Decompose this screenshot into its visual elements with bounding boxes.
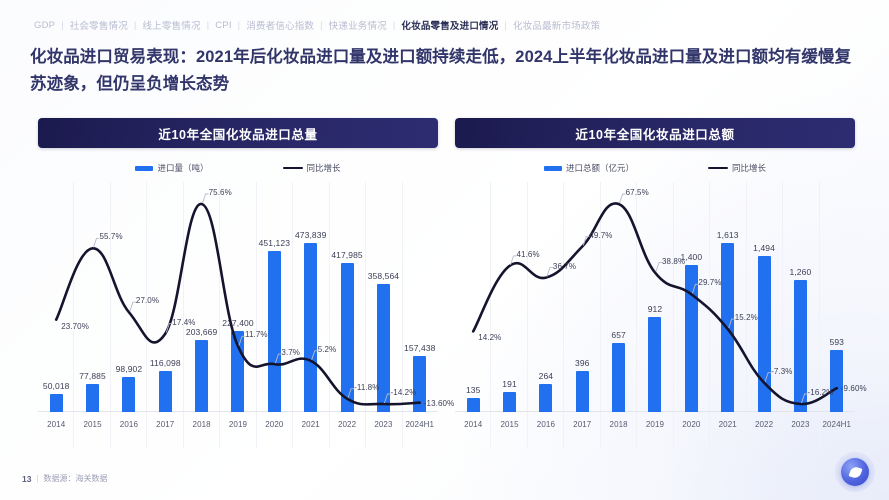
- x-axis-labels-import-volume: 2014201520162017201820192020202120222023…: [38, 420, 438, 434]
- x-tick-label: 2019: [637, 420, 673, 434]
- nav-item-6[interactable]: 快递业务情况: [323, 18, 393, 32]
- chart-plot-import-value: 1351912643966579121,4001,6131,4941,26059…: [455, 182, 855, 448]
- trend-value-label: 36.7%: [553, 262, 576, 271]
- x-tick-label: 2024H1: [819, 420, 855, 434]
- nav-item-7[interactable]: 化妆品零售及进口情况: [395, 18, 504, 32]
- chart-panel-import-value: 近10年全国化妆品进口总额 进口总额（亿元）同比增长 1351912643966…: [455, 118, 855, 448]
- legend-entry-2[interactable]: 同比增长: [708, 162, 766, 174]
- trend-value-label: -9.60%: [841, 384, 867, 393]
- x-tick-label: 2015: [74, 420, 110, 434]
- chart-title-import-volume: 近10年全国化妆品进口总量: [38, 118, 438, 148]
- leaf-logo-icon: [841, 458, 869, 486]
- trend-value-label: -13.60%: [424, 399, 455, 408]
- nav-item-2[interactable]: 社会零售情况: [64, 18, 134, 32]
- trend-value-label: 3.7%: [281, 348, 300, 357]
- slide-canvas: GDP|社会零售情况|线上零售情况|CPI|消费者信心指数|快递业务情况|化妆品…: [0, 0, 889, 500]
- x-tick-label: 2015: [491, 420, 527, 434]
- footer-separator: |: [36, 474, 38, 483]
- legend-entry-1[interactable]: 进口总额（亿元）: [544, 162, 634, 174]
- section-navigation[interactable]: GDP|社会零售情况|线上零售情况|CPI|消费者信心指数|快递业务情况|化妆品…: [34, 18, 606, 32]
- legend-label: 进口总额（亿元）: [566, 162, 634, 174]
- x-tick-label: 2019: [220, 420, 256, 434]
- x-tick-label: 2021: [293, 420, 329, 434]
- page-number: 13: [22, 474, 31, 484]
- x-tick-label: 2016: [528, 420, 564, 434]
- trend-value-label: -16.2%: [808, 388, 834, 397]
- trend-value-label: 49.7%: [589, 231, 612, 240]
- legend-label: 同比增长: [732, 162, 766, 174]
- x-tick-label: 2020: [673, 420, 709, 434]
- legend-label: 进口量（吨）: [157, 162, 208, 174]
- trend-value-label: 17.4%: [172, 318, 195, 327]
- x-tick-label: 2014: [38, 420, 74, 434]
- x-tick-label: 2018: [600, 420, 636, 434]
- x-tick-label: 2016: [111, 420, 147, 434]
- legend-entry-1[interactable]: 进口量（吨）: [135, 162, 208, 174]
- legend-line-swatch-icon: [708, 167, 728, 170]
- chart-legend-import-volume[interactable]: 进口量（吨）同比增长: [38, 160, 438, 176]
- trend-value-label: 29.7%: [698, 278, 721, 287]
- x-axis-labels-import-value: 2014201520162017201820192020202120222023…: [455, 420, 855, 434]
- nav-item-3[interactable]: 线上零售情况: [136, 18, 206, 32]
- x-tick-label: 2022: [746, 420, 782, 434]
- footer: 13 | 数据源：海关数据: [22, 473, 108, 484]
- trend-value-label: 15.2%: [735, 313, 758, 322]
- nav-item-5[interactable]: 消费者信心指数: [240, 18, 320, 32]
- chart-legend-import-value[interactable]: 进口总额（亿元）同比增长: [455, 160, 855, 176]
- trend-value-label: 27.0%: [136, 296, 159, 305]
- legend-bar-swatch-icon: [544, 166, 562, 171]
- x-tick-label: 2022: [329, 420, 365, 434]
- trend-value-label: 41.6%: [517, 250, 540, 259]
- x-tick-label: 2021: [710, 420, 746, 434]
- trend-line-import-value: [455, 182, 855, 448]
- trend-value-label: 14.2%: [478, 333, 501, 342]
- x-tick-label: 2017: [147, 420, 183, 434]
- trend-value-label: -11.8%: [354, 383, 379, 392]
- chart-plot-import-volume: 50,01877,88598,902116,098203,669227,4004…: [38, 182, 438, 448]
- x-tick-label: 2017: [564, 420, 600, 434]
- x-tick-label: 2018: [183, 420, 219, 434]
- nav-item-1[interactable]: GDP: [34, 20, 61, 31]
- nav-item-8[interactable]: 化妆品最新市场政策: [507, 18, 606, 32]
- legend-bar-swatch-icon: [135, 166, 153, 171]
- trend-value-label: 11.7%: [245, 330, 268, 339]
- trend-value-label: 23.70%: [61, 322, 89, 331]
- trend-line-import-volume: [38, 182, 438, 448]
- chart-title-import-value: 近10年全国化妆品进口总额: [455, 118, 855, 148]
- trend-value-label: 5.2%: [318, 345, 337, 354]
- page-title: 化妆品进口贸易表现：2021年后化妆品进口量及进口额持续走低，2024上半年化妆…: [30, 44, 865, 98]
- chart-panel-import-volume: 近10年全国化妆品进口总量 进口量（吨）同比增长 50,01877,88598,…: [38, 118, 438, 448]
- trend-value-label: -7.3%: [771, 367, 792, 376]
- legend-line-swatch-icon: [283, 167, 303, 170]
- data-source-note: 数据源：海关数据: [44, 473, 108, 484]
- trend-value-label: 38.8%: [662, 257, 685, 266]
- x-tick-label: 2024H1: [402, 420, 438, 434]
- x-tick-label: 2023: [782, 420, 818, 434]
- trend-value-label: 55.7%: [100, 232, 123, 241]
- x-tick-label: 2020: [256, 420, 292, 434]
- leaf-glyph: [848, 465, 862, 479]
- legend-label: 同比增长: [307, 162, 341, 174]
- legend-entry-2[interactable]: 同比增长: [283, 162, 341, 174]
- trend-value-label: 67.5%: [626, 188, 649, 197]
- nav-item-4[interactable]: CPI: [209, 20, 237, 31]
- x-tick-label: 2014: [455, 420, 491, 434]
- trend-value-label: -14.2%: [391, 388, 417, 397]
- trend-value-label: 75.6%: [209, 188, 232, 197]
- x-tick-label: 2023: [365, 420, 401, 434]
